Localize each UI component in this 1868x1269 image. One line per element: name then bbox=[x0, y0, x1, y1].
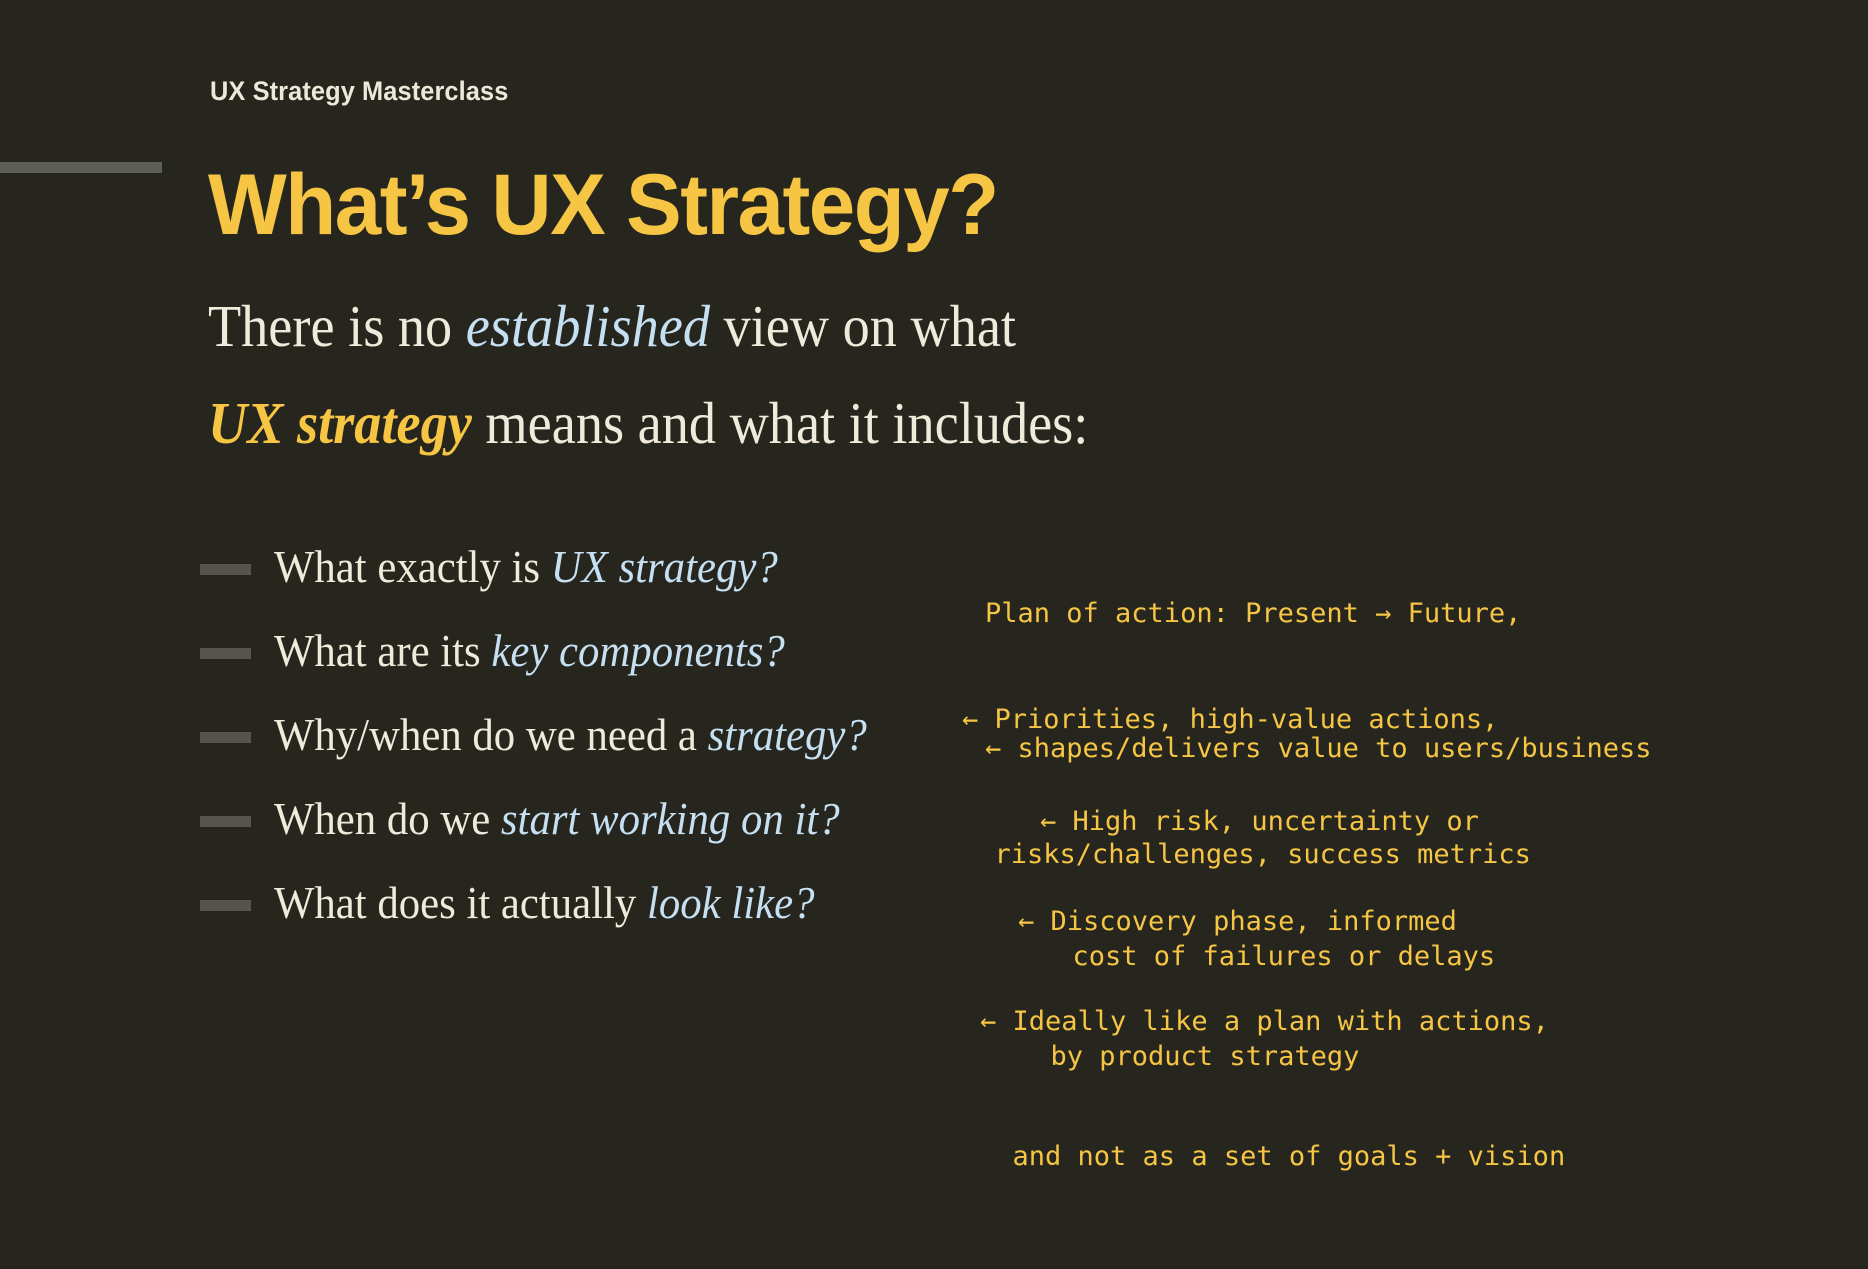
annotation-line: Plan of action: Present → Future, bbox=[985, 591, 1651, 636]
question-list: What exactly is UX strategy? What are it… bbox=[200, 525, 1020, 945]
lead-emphasis-established: established bbox=[466, 293, 710, 359]
list-item-text: What are its key components? bbox=[274, 624, 785, 678]
list-item: When do we start working on it? bbox=[200, 777, 1020, 861]
annotation-note: ← Discovery phase, informed by product s… bbox=[1018, 809, 1457, 1169]
list-item: What does it actually look like? bbox=[200, 861, 1020, 945]
annotation-line: ← shapes/delivers value to users/busines… bbox=[985, 726, 1651, 771]
dash-marker-icon bbox=[200, 564, 251, 575]
lead-text-b: view on what bbox=[710, 293, 1016, 359]
lead-emphasis-ux-strategy: UX strategy bbox=[208, 390, 472, 456]
dash-marker-icon bbox=[200, 900, 251, 911]
list-item-text: When do we start working on it? bbox=[274, 792, 840, 846]
annotation-note: ← Priorities, high-value actions, risks/… bbox=[962, 607, 1531, 967]
dash-marker-icon bbox=[200, 648, 251, 659]
annotation-note: ← Ideally like a plan with actions, and … bbox=[980, 909, 1565, 1269]
kicker-label: UX Strategy Masterclass bbox=[210, 76, 508, 107]
dash-marker-icon bbox=[200, 816, 251, 827]
list-item: What are its key components? bbox=[200, 609, 1020, 693]
list-item-emphasis: start working on it? bbox=[501, 793, 840, 844]
list-item-plain: What exactly is bbox=[274, 541, 551, 592]
list-item-emphasis: UX strategy? bbox=[551, 541, 778, 592]
lead-paragraph: There is no established view on what UX … bbox=[208, 278, 1220, 472]
annotation-line: risks/challenges, success metrics bbox=[962, 832, 1531, 877]
list-item-plain: What are its bbox=[274, 625, 491, 676]
annotation-note: Plan of action: Present → Future, ← shap… bbox=[985, 501, 1651, 861]
list-item-emphasis: strategy? bbox=[708, 709, 867, 760]
list-item-text: Why/when do we need a strategy? bbox=[274, 708, 867, 762]
dash-marker-icon bbox=[200, 732, 251, 743]
annotation-line: ← Discovery phase, informed bbox=[1018, 899, 1457, 944]
list-item-emphasis: look like? bbox=[647, 877, 814, 928]
lead-line-2: UX strategy means and what it includes: bbox=[208, 375, 1220, 472]
list-item: What exactly is UX strategy? bbox=[200, 525, 1020, 609]
lead-line-1: There is no established view on what bbox=[208, 278, 1220, 375]
list-item-emphasis: key components? bbox=[491, 625, 784, 676]
annotation-line: ← Priorities, high-value actions, bbox=[962, 697, 1531, 742]
slide-root: UX Strategy Masterclass What’s UX Strate… bbox=[0, 0, 1868, 1050]
list-item-plain: Why/when do we need a bbox=[274, 709, 708, 760]
annotation-line: ← Ideally like a plan with actions, bbox=[980, 999, 1565, 1044]
list-item: Why/when do we need a strategy? bbox=[200, 693, 1020, 777]
list-item-plain: When do we bbox=[274, 793, 501, 844]
annotation-note: ← High risk, uncertainty or cost of fail… bbox=[1040, 709, 1495, 1069]
page-title: What’s UX Strategy? bbox=[208, 162, 998, 248]
list-item-text: What exactly is UX strategy? bbox=[274, 540, 778, 594]
annotation-line: ← High risk, uncertainty or bbox=[1040, 799, 1495, 844]
list-item-text: What does it actually look like? bbox=[274, 876, 815, 930]
lead-text-c: means and what it includes: bbox=[472, 390, 1089, 456]
list-item-plain: What does it actually bbox=[274, 877, 647, 928]
lead-text-a: There is no bbox=[208, 293, 466, 359]
annotation-line: by product strategy bbox=[1018, 1034, 1457, 1079]
header-rule-decoration bbox=[0, 162, 162, 173]
annotation-line: cost of failures or delays bbox=[1040, 934, 1495, 979]
annotation-line: and not as a set of goals + vision bbox=[980, 1134, 1565, 1179]
